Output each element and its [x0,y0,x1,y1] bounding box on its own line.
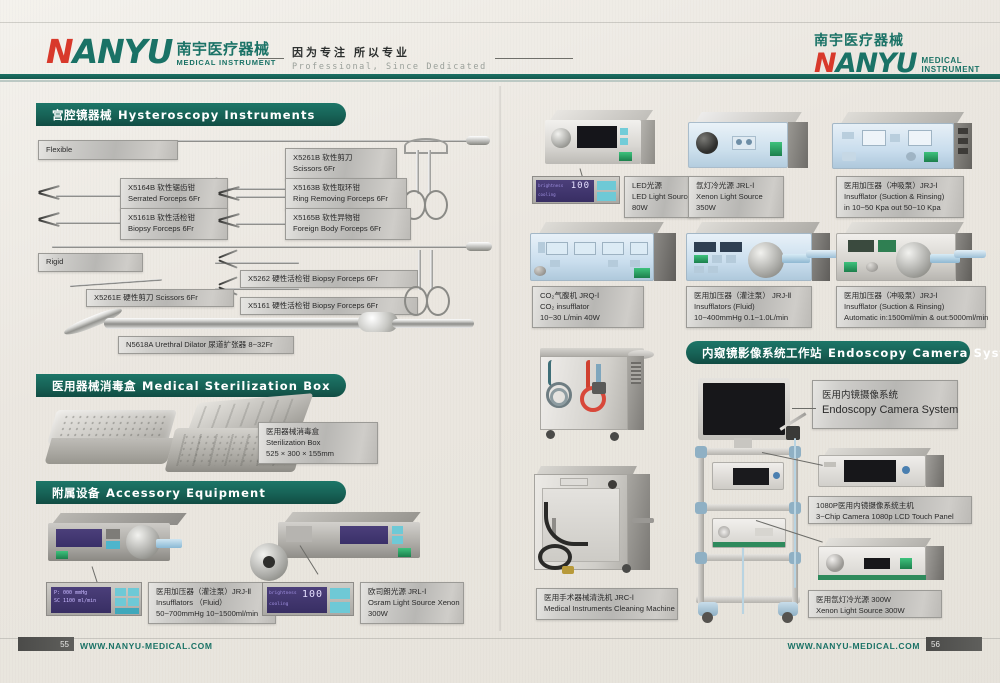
caption-insufflator-suction: 医用加压器（冲吸泵）JRJ-Ⅰ Insufflator (Suction & R… [836,176,964,218]
instrument-dilator-curve [52,310,112,342]
caption-x5163b: X5163B 软性取环钳 Ring Removing Forceps 6Fr [285,178,407,210]
device-cleaning-machine-lower [534,460,664,580]
display-panel-osram: brightness 100 cooling [262,582,354,616]
device-insufflator-fluid [48,513,194,565]
device-1080p-camera [818,448,944,490]
header-band-light [0,80,1000,82]
endoscopy-cart [690,378,812,618]
logo-right-wordmark: NANYU [814,50,917,77]
logo-right-subtitle: MEDICAL INSTRUMENT [922,56,980,74]
instrument-dilator-shaft [104,318,366,329]
device-insufflator-suction [832,112,972,174]
device-insufflator-suction-auto [836,222,988,284]
caption-x5164b: X5164B 软性锯齿钳 Serrated Forceps 6Fr [120,178,228,210]
caption-1080p-camera: 1080P医用内镜摄像系统主机 3~Chip Camera 1080p LCD … [808,496,972,524]
instrument-jaw-x5164b [38,186,60,198]
header-top-rule [0,22,1000,23]
slogan-rule-left [258,58,284,59]
caption-n5618a: N5618A Urethral Dilator 尿道扩张器 8~32Fr [118,336,294,354]
slogan-rule-right [495,58,573,59]
device-co2-insufflator [530,222,676,284]
catalog-page: NANYU 南宇医疗器械 MEDICAL INSTRUMENT 因为专注 所以专… [0,0,1000,683]
caption-cleaning-machine: 医用手术器械清洗机 JRC-Ⅰ Medical Instruments Clea… [536,588,678,620]
instrument-jaw-x5262 [218,252,238,266]
logo-right-chinese: 南宇医疗器械 [814,30,980,50]
device-insufflator-fluid-jrj2 [686,222,844,284]
page-number-right: 56 [926,637,982,651]
page-gutter [499,86,501,631]
header-band [0,74,1000,79]
logo-right: 南宇医疗器械 NANYU MEDICAL INSTRUMENT [814,30,980,77]
instrument-jaw-x5163b [218,187,240,199]
slogan: 因为专注 所以专业 Professional, Since Dedicated [258,44,573,72]
instrument-jaw-x5165b [218,214,240,226]
caption-insufflator-fluid: 医用加压器（灌注泵）JRJ-Ⅱ Insufflators （Fluid） 50~… [148,582,276,624]
caption-xenon-300w: 医用氙灯冷光源 300W Xenon Light Source 300W [808,590,942,618]
caption-x5165b: X5165B 软性异物钳 Foreign Body Forceps 6Fr [285,208,411,240]
caption-x5261e: X5261E 硬性剪刀 Scissors 6Fr [86,289,234,307]
logo-left: NANYU 南宇医疗器械 MEDICAL INSTRUMENT [46,35,276,68]
group-label-rigid: Rigid [38,253,143,272]
instrument-shaft-x5261e [70,279,162,287]
device-xenon-300w [818,538,944,584]
instrument-jaw-x5161b [38,213,60,225]
caption-insufflator-suction-auto: 医用加压器（冲吸泵）JRJ-Ⅰ Insufflator (Suction & R… [836,286,986,328]
section-header-hysteroscopy: 宫腔镜器械 Hysteroscopy Instruments [36,103,346,126]
caption-insufflator-fluid-jrj2: 医用加压器（灌注泵） JRJ-Ⅱ Insufflators (Fluid) 10… [686,286,812,328]
footer-url-right[interactable]: WWW.NANYU-MEDICAL.COM [787,641,920,651]
page-number-left: 55 [18,637,74,651]
slogan-chinese: 因为专注 所以专业 [292,44,487,60]
instrument-rigid-shaft [52,246,470,248]
caption-osram-light-source: 欧司朗光源 JRL-Ⅰ Osram Light Source Xenon 300… [360,582,464,624]
device-osram-light-source [278,512,430,564]
group-label-flexible: Flexible [38,140,178,160]
callout-line-camera-1 [792,408,816,409]
display-panel-insufflator: P: 000 mmHg SC 1100 ml/min [46,582,142,616]
caption-sterilization-box: 医用器械消毒盒 Sterilization Box 525 × 300 × 15… [258,422,378,464]
caption-x5261b: X5261B 软性剪刀 Scissors 6Fr [285,148,397,180]
instrument-forceps-handle-rigid [398,250,468,328]
footer-url-left[interactable]: WWW.NANYU-MEDICAL.COM [80,641,213,651]
sterilization-box-closed [46,410,178,472]
section-header-accessory: 附属设备 Accessory Equipment [36,481,346,504]
device-xenon-light-source [688,112,808,172]
caption-endoscopy-camera-system: 医用内镜摄像系统 Endoscopy Camera System [812,380,958,429]
caption-xenon-light-source: 氙灯冷光源 JRL-Ⅰ Xenon Light Source 350W [688,176,784,218]
instrument-scope-tip [466,136,490,145]
instrument-rigid-tip [466,242,492,251]
instrument-dilator-tail [392,319,474,328]
caption-co2-insufflator: CO₂气腹机 JRQ-Ⅰ CO₂ insufflator 10~30 L/min… [532,286,644,328]
section-header-camera-system: 内窥镜影像系统工作站 Endoscopy Camera System [686,341,970,364]
light-guide-adapter [250,543,288,581]
footer-rule [0,638,1000,639]
caption-x5161b: X5161B 软性活检钳 Biopsy Forceps 6Fr [120,208,228,240]
device-cleaning-machine-upper [532,348,654,446]
caption-x5262: X5262 硬性活检钳 Biopsy Forceps 6Fr [240,270,418,288]
slogan-english: Professional, Since Dedicated [292,62,487,72]
logo-wordmark: NANYU [46,35,172,68]
display-panel-led: brightness 100 cooling [532,176,620,204]
device-led-light-source [545,110,655,168]
